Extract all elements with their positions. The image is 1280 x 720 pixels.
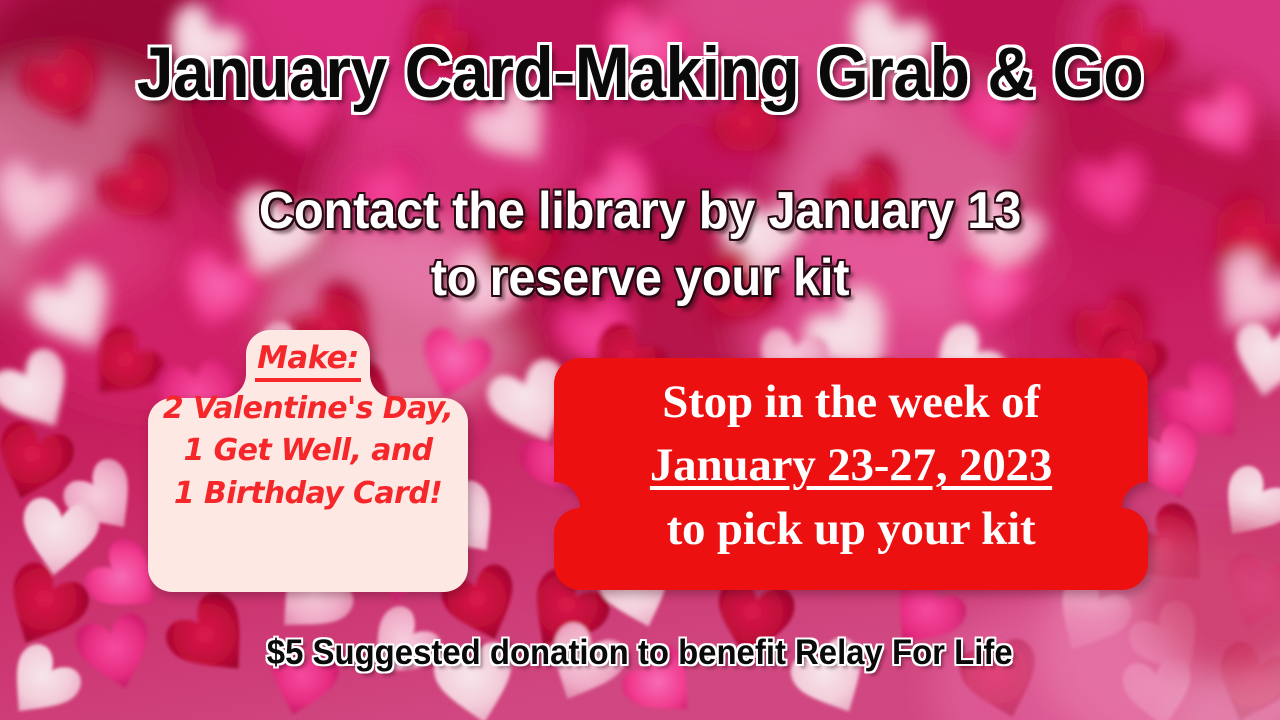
pickup-line-1: Stop in the week of xyxy=(554,371,1148,434)
pickup-line-3: to pick up your kit xyxy=(554,498,1148,561)
make-line-2: 1 Get Well, and xyxy=(148,430,468,473)
page-title: January Card-Making Grab & Go xyxy=(0,38,1280,109)
pickup-callout-card: Stop in the week of January 23-27, 2023 … xyxy=(554,358,1148,590)
subtitle-block: Contact the library by January 13 to res… xyxy=(0,178,1280,311)
make-line-3: 1 Birthday Card! xyxy=(148,473,468,516)
title-text: January Card-Making Grab & Go xyxy=(45,38,1235,109)
make-callout-card: Make: 2 Valentine's Day, 1 Get Well, and… xyxy=(148,330,468,592)
make-card-content: Make: 2 Valentine's Day, 1 Get Well, and… xyxy=(148,330,468,592)
make-line-1: 2 Valentine's Day, xyxy=(148,388,468,431)
donation-note: $5 Suggested donation to benefit Relay F… xyxy=(0,634,1280,673)
poster-canvas: January Card-Making Grab & Go Contact th… xyxy=(0,0,1280,720)
pickup-line-2-date: January 23-27, 2023 xyxy=(554,434,1148,497)
subtitle-line-1: Contact the library by January 13 xyxy=(38,178,1241,245)
subtitle-line-2: to reserve your kit xyxy=(38,245,1241,312)
donation-note-text: $5 Suggested donation to benefit Relay F… xyxy=(267,634,1013,673)
make-heading: Make: xyxy=(255,342,361,382)
pickup-card-content: Stop in the week of January 23-27, 2023 … xyxy=(554,358,1148,590)
